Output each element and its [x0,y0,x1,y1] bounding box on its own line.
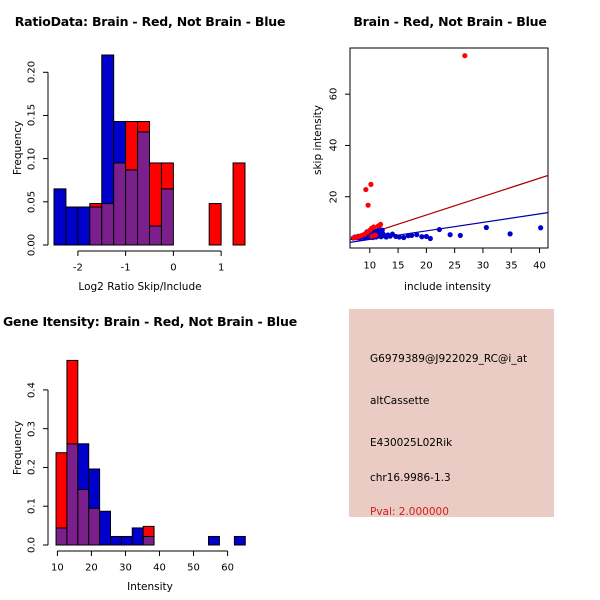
scatter-ytick-1: 40 [329,139,340,152]
gene-xtick-4: 50 [187,563,200,574]
ratio-ytick-2: 0.10 [27,147,38,169]
scatter-panel: Brain - Red, Not Brain - Blue skip inten… [300,0,600,300]
annotation-pval: Pval: 2.000000 [370,506,449,518]
scatter-xtick-3: 25 [448,261,461,272]
ratio-histogram-plot [0,0,300,300]
gene-xtick-1: 20 [85,563,98,574]
ratio-xtick-3: 1 [218,263,224,274]
ratio-ytick-4: 0.20 [27,61,38,83]
scatter-ytick-0: 20 [329,190,340,203]
scatter-xtick-0: 10 [363,261,376,272]
annotation-event-type: altCassette [370,395,429,407]
gene-ytick-3: 0.3 [27,421,38,437]
ratio-ytick-1: 0.05 [27,191,38,213]
gene-xtick-5: 60 [221,563,234,574]
ratio-xtick-1: -1 [121,263,131,274]
ratio-xtick-2: 0 [170,263,176,274]
gene-xtick-3: 40 [153,563,166,574]
ratio-ytick-3: 0.15 [27,104,38,126]
gene-ytick-2: 0.2 [27,459,38,475]
ratio-histogram-panel: RatioData: Brain - Red, Not Brain - Blue… [0,0,300,300]
gene-xtick-2: 30 [119,563,132,574]
gene-ytick-4: 0.4 [27,382,38,398]
ratio-ytick-0: 0.00 [27,234,38,256]
gene-histogram-panel: Gene Itensity: Brain - Red, Not Brain - … [0,300,300,600]
scatter-ytick-2: 60 [329,88,340,101]
gene-xtick-0: 10 [51,563,64,574]
scatter-xtick-5: 35 [505,261,518,272]
scatter-xtick-4: 30 [477,261,490,272]
annotation-locus: chr16.9986-1.3 [370,472,451,484]
gene-ytick-0: 0.0 [27,537,38,553]
scatter-plot [300,0,600,300]
annotation-gene-symbol: E430025L02Rik [370,437,452,449]
annotation-box: G6979389@J922029_RC@i_ataltCassetteE4300… [349,309,554,517]
annotation-probe-id: G6979389@J922029_RC@i_at [370,353,527,365]
ratio-xtick-0: -2 [73,263,83,274]
scatter-xtick-6: 40 [533,261,546,272]
scatter-xtick-2: 20 [420,261,433,272]
scatter-xtick-1: 15 [392,261,405,272]
gene-ytick-1: 0.1 [27,498,38,514]
gene-histogram-plot [0,300,300,600]
annotation-panel: G6979389@J922029_RC@i_ataltCassetteE4300… [300,300,600,600]
